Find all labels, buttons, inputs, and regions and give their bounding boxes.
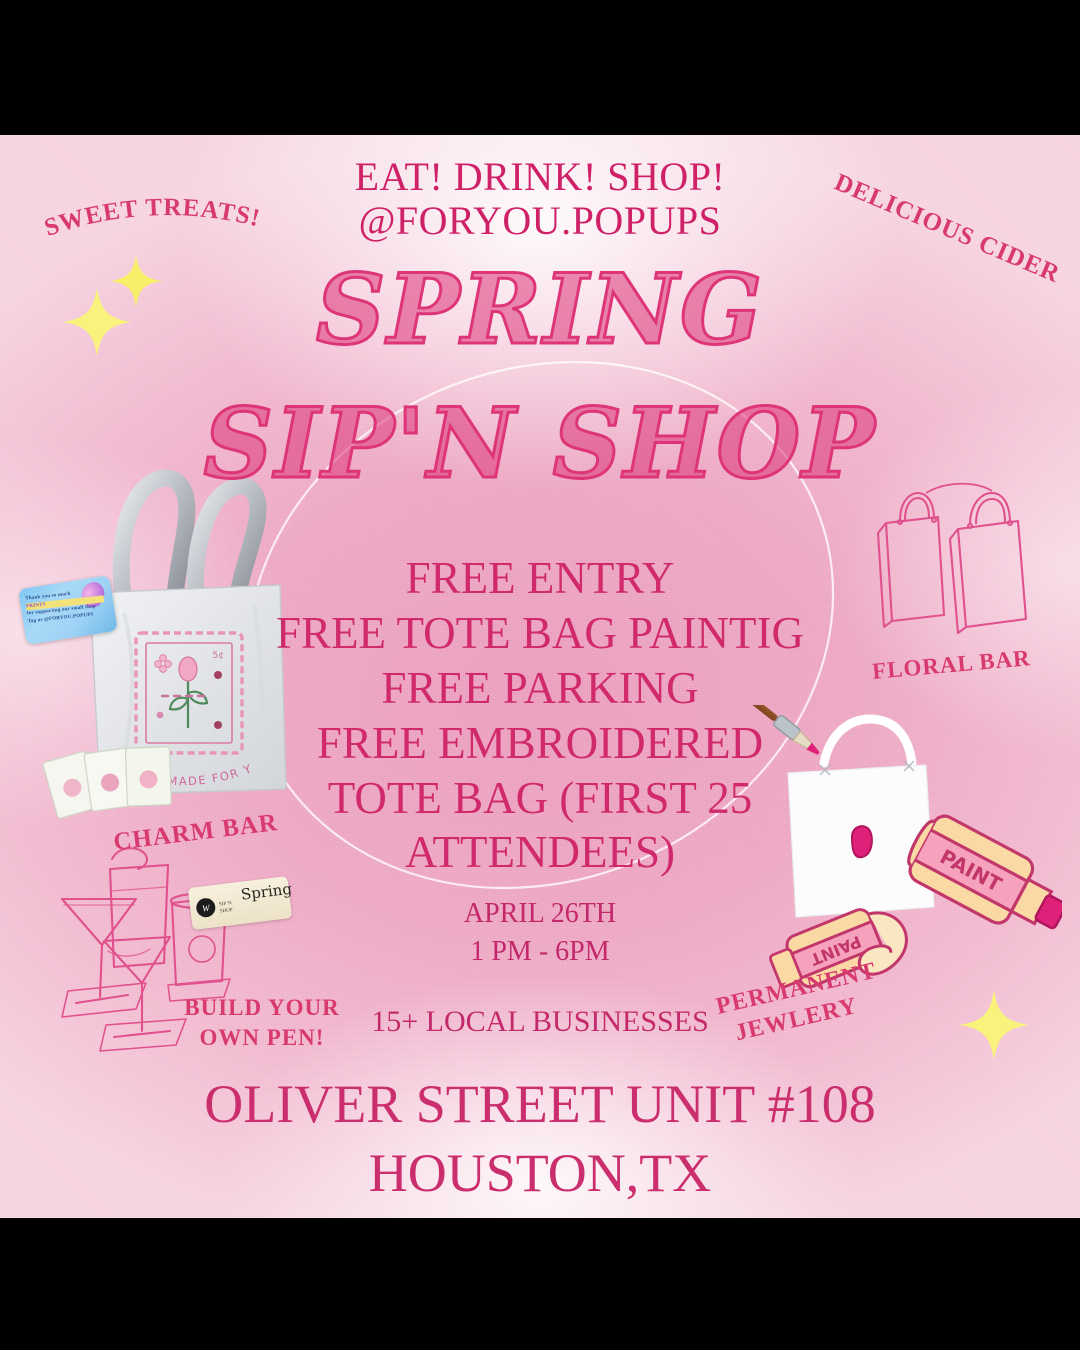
svg-text:SWEET TREATS!: SWEET TREATS! (41, 194, 263, 242)
sparkle-icon-bottom-right (956, 987, 1032, 1063)
perk-item: FREE PARKING (250, 661, 830, 716)
tag-build-your-own-pen: BUILD YOUR OWN PEN! (172, 993, 352, 1053)
sparkle-icon-top-left-large (60, 285, 134, 359)
perk-item: FREE TOTE BAG PAINTIG (250, 606, 830, 661)
address-line-2: HOUSTON,TX (40, 1139, 1040, 1208)
perk-item: FREE ENTRY (250, 551, 830, 606)
seal-logo-icon: W (195, 897, 216, 918)
letterbox-top (0, 0, 1080, 135)
letterbox-bottom (0, 1218, 1080, 1350)
event-address: OLIVER STREET UNIT #108 HOUSTON,TX (40, 1070, 1040, 1208)
event-date: APRIL 26TH (290, 895, 790, 933)
perks-list: FREE ENTRY FREE TOTE BAG PAINTIG FREE PA… (250, 551, 830, 880)
tag-script-text: Spring (240, 880, 293, 904)
perk-item: FREE EMBROIDERED (250, 716, 830, 771)
event-time: 1 PM - 6PM (290, 933, 790, 971)
flyer-stage: 5¢ POP.UPS MADE FOR YOU (0, 0, 1080, 1350)
stamp-value: 5¢ (213, 651, 224, 661)
tag-small-bottom: SHOP (220, 907, 234, 916)
address-line-1: OLIVER STREET UNIT #108 (40, 1070, 1040, 1139)
poster-canvas: 5¢ POP.UPS MADE FOR YOU (0, 135, 1080, 1218)
title-sipn-shop: SIP'N SHOP (0, 387, 1080, 500)
event-datetime: APRIL 26TH 1 PM - 6PM (290, 895, 790, 971)
tag-sweet-treats: SWEET TREATS! (38, 193, 268, 263)
shopping-bags-icon (866, 475, 1046, 655)
perk-item: TOTE BAG (FIRST 25 (250, 771, 830, 826)
perk-item: ATTENDEES) (250, 825, 830, 880)
